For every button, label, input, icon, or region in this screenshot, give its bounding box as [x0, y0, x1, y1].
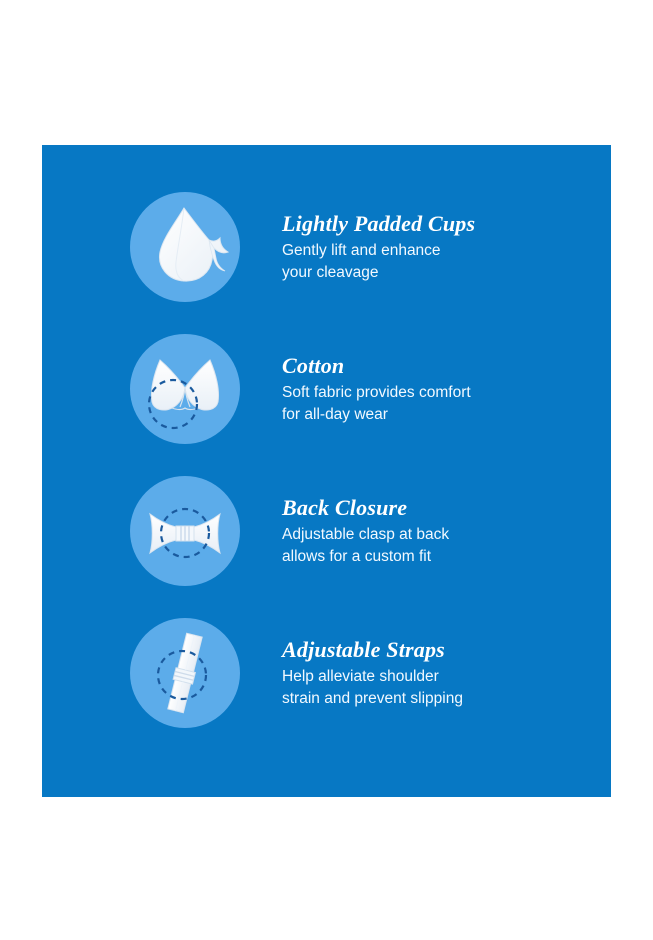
feature-description: Help alleviate shoulder strain and preve… [282, 666, 532, 709]
feature-item-back-closure: Back Closure Adjustable clasp at back al… [42, 471, 611, 591]
description-line: allows for a custom fit [282, 546, 532, 568]
feature-description: Adjustable clasp at back allows for a cu… [282, 524, 532, 567]
adjustable-shoulder-strap-icon [130, 618, 240, 728]
description-line: Gently lift and enhance [282, 240, 532, 262]
bra-back-closure-clasp-icon [130, 476, 240, 586]
feature-text: Cotton Soft fabric provides comfort for … [282, 353, 611, 426]
feature-text: Adjustable Straps Help alleviate shoulde… [282, 637, 611, 710]
feature-item-lightly-padded-cups: Lightly Padded Cups Gently lift and enha… [42, 187, 611, 307]
description-line: for all-day wear [282, 404, 532, 426]
feature-text: Back Closure Adjustable clasp at back al… [282, 495, 611, 568]
description-line: Soft fabric provides comfort [282, 382, 532, 404]
icon-badge [130, 334, 240, 444]
description-line: Adjustable clasp at back [282, 524, 532, 546]
icon-badge [130, 618, 240, 728]
feature-title: Lightly Padded Cups [282, 211, 593, 237]
padded-bra-cup-side-view-icon [130, 192, 240, 302]
feature-title: Cotton [282, 353, 593, 379]
feature-item-cotton: Cotton Soft fabric provides comfort for … [42, 329, 611, 449]
description-line: your cleavage [282, 262, 532, 284]
icon-badge [130, 192, 240, 302]
feature-item-adjustable-straps: Adjustable Straps Help alleviate shoulde… [42, 613, 611, 733]
icon-badge [130, 476, 240, 586]
bra-front-cups-icon [130, 334, 240, 444]
description-line: strain and prevent slipping [282, 688, 532, 710]
feature-panel: Lightly Padded Cups Gently lift and enha… [42, 145, 611, 797]
feature-text: Lightly Padded Cups Gently lift and enha… [282, 211, 611, 284]
feature-title: Adjustable Straps [282, 637, 593, 663]
description-line: Help alleviate shoulder [282, 666, 532, 688]
feature-list: Lightly Padded Cups Gently lift and enha… [42, 145, 611, 797]
feature-description: Soft fabric provides comfort for all-day… [282, 382, 532, 425]
feature-title: Back Closure [282, 495, 593, 521]
feature-description: Gently lift and enhance your cleavage [282, 240, 532, 283]
